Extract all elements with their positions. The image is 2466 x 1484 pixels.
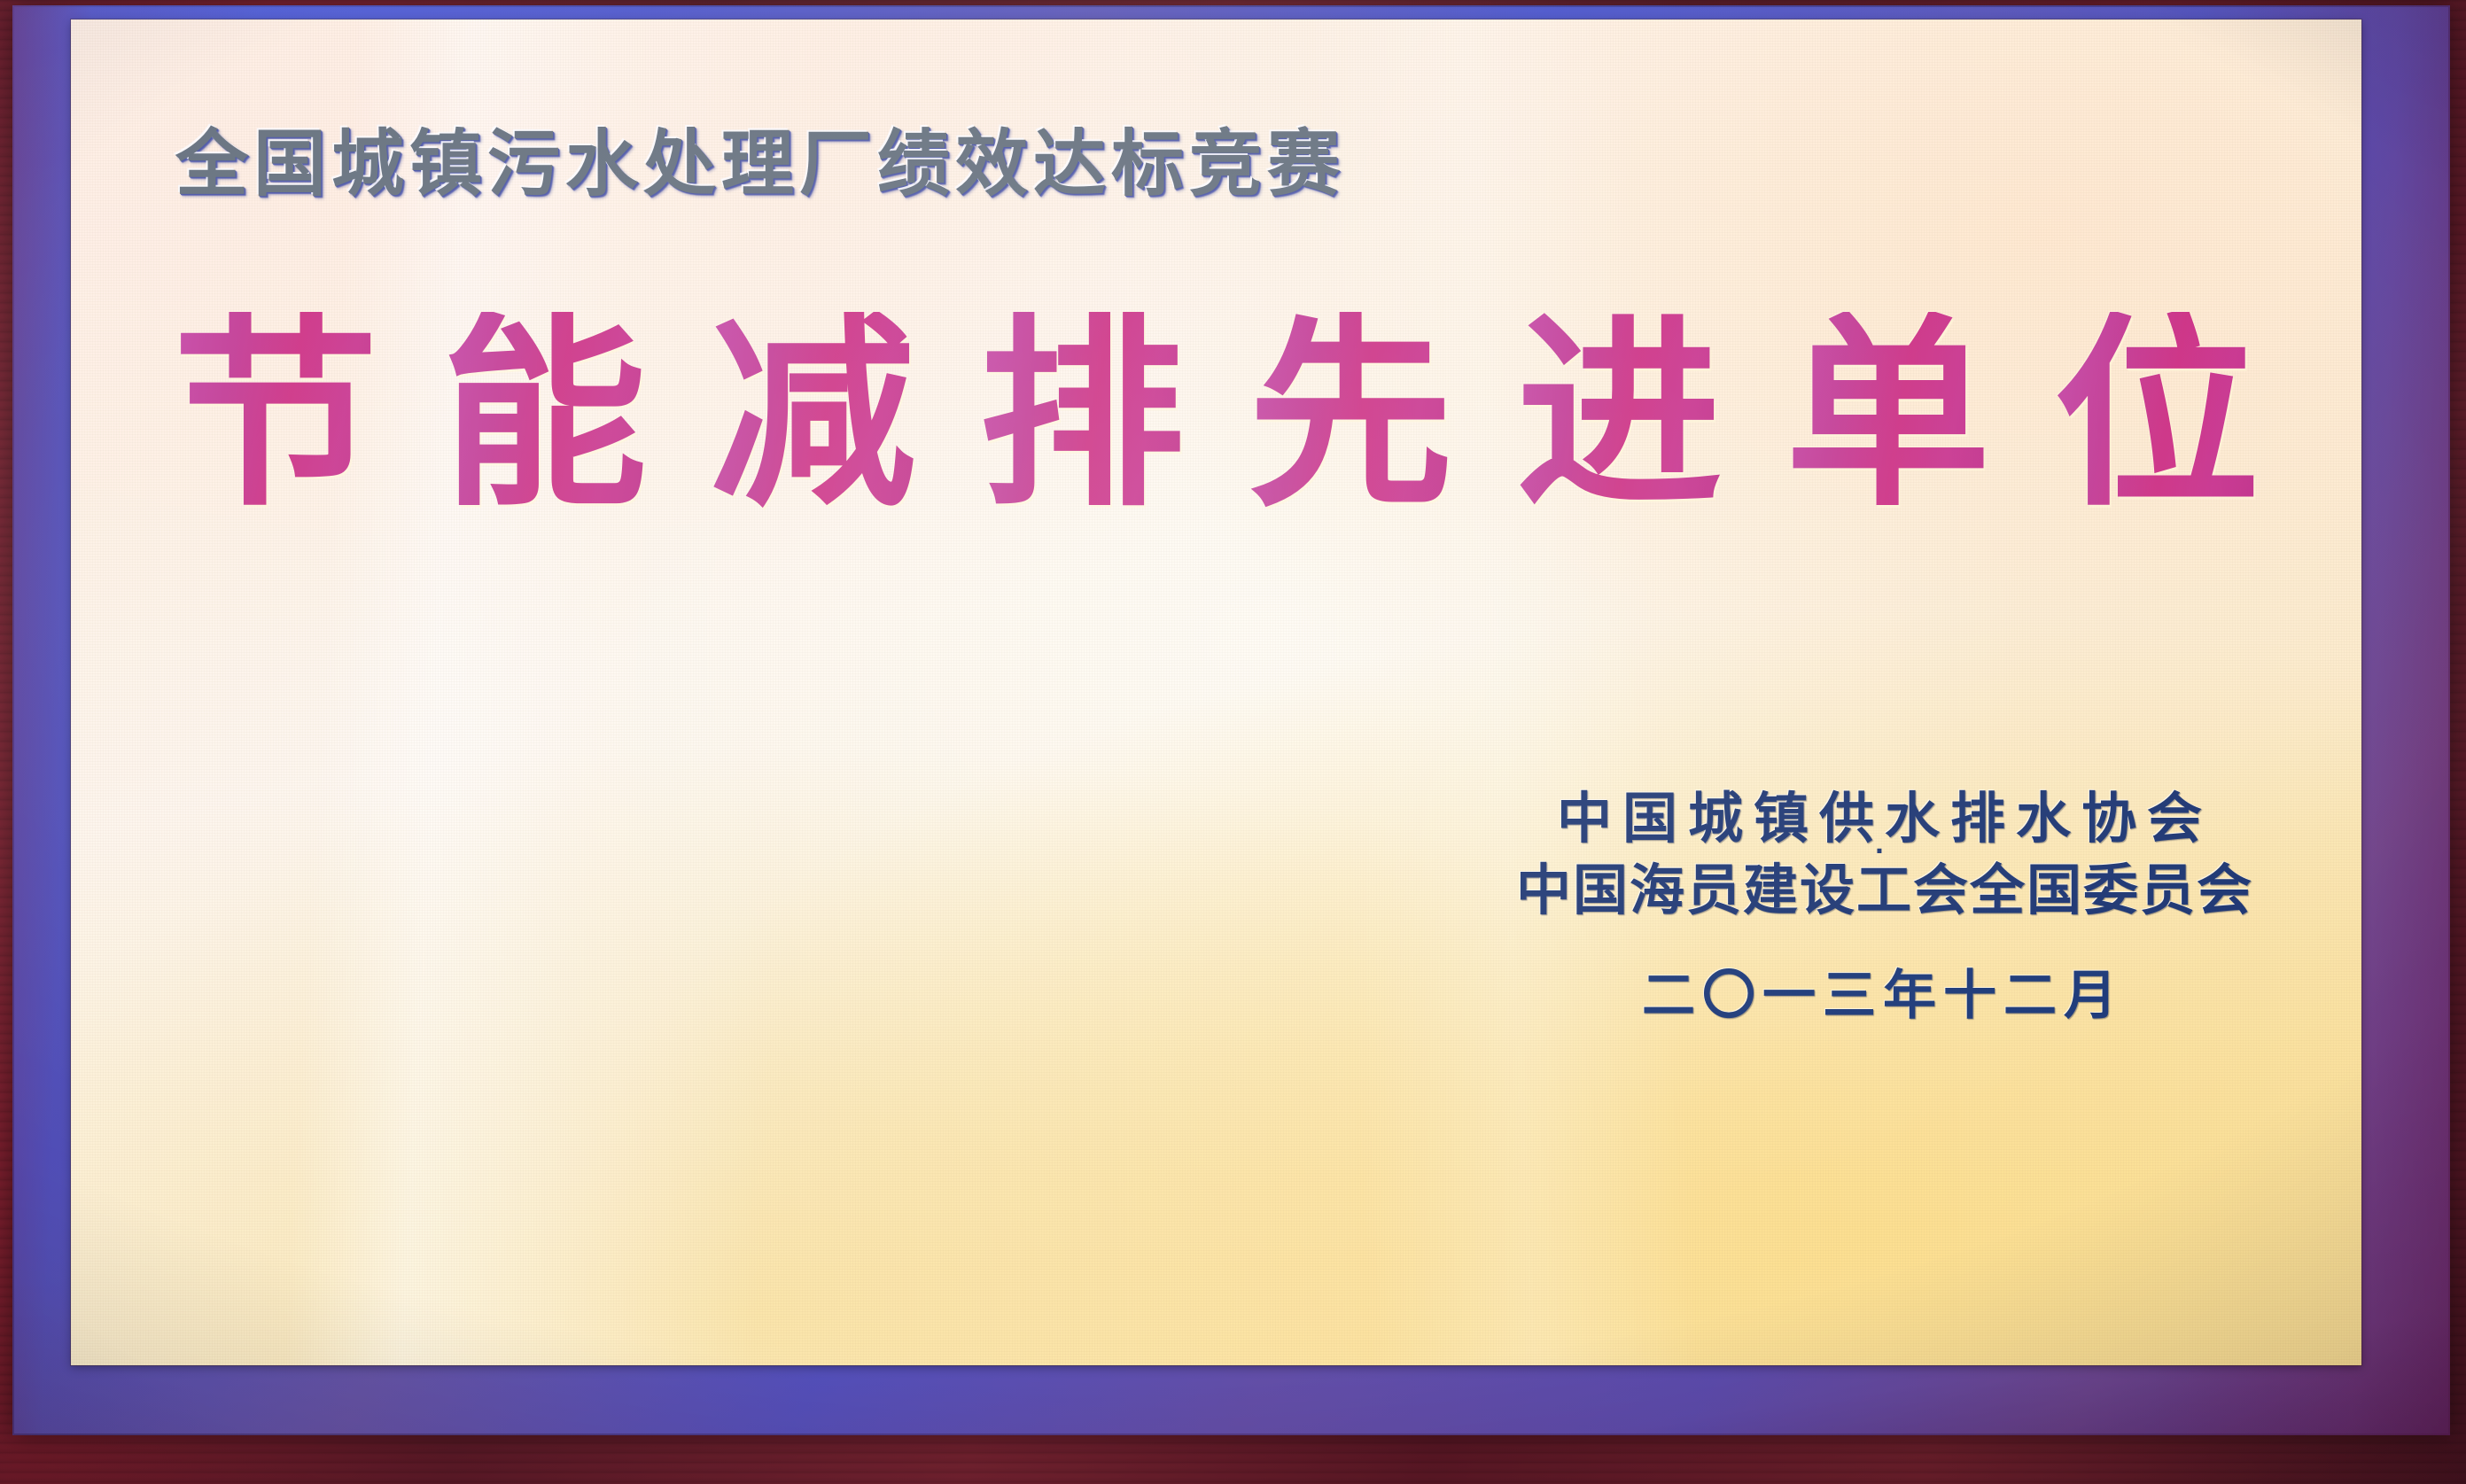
certificate-panel: 全国城镇污水处理厂绩效达标竞赛 节 能 减 排 先 进 单 位 中国城镇供水排水… [71,19,2361,1365]
award-headline: 节 能 减 排 先 进 单 位 [173,312,2260,517]
issue-date: 二〇一三年十二月 [1505,952,2253,1029]
issuer-signature-block: 中国城镇供水排水协会 · 中国海员建设工会全国委员会 二〇一三年十二月 [1505,786,2253,1029]
headline-char-8: 位 [2054,312,2260,517]
issuer-organization-secondary: 中国海员建设工会全国委员会 [1505,858,2253,922]
headline-char-6: 进 [1516,312,1722,517]
headline-char-7: 单 [1785,312,1991,517]
headline-char-1: 节 [173,312,378,517]
certificate-content: 全国城镇污水处理厂绩效达标竞赛 节 能 减 排 先 进 单 位 中国城镇供水排水… [71,19,2361,1365]
headline-char-3: 减 [711,312,916,517]
headline-char-2: 能 [441,312,647,517]
award-plaque: 全国城镇污水处理厂绩效达标竞赛 节 能 减 排 先 进 单 位 中国城镇供水排水… [0,0,2466,1484]
competition-subtitle: 全国城镇污水处理厂绩效达标竞赛 [175,124,1345,206]
headline-char-4: 排 [979,312,1185,517]
headline-char-5: 先 [1248,312,1453,517]
